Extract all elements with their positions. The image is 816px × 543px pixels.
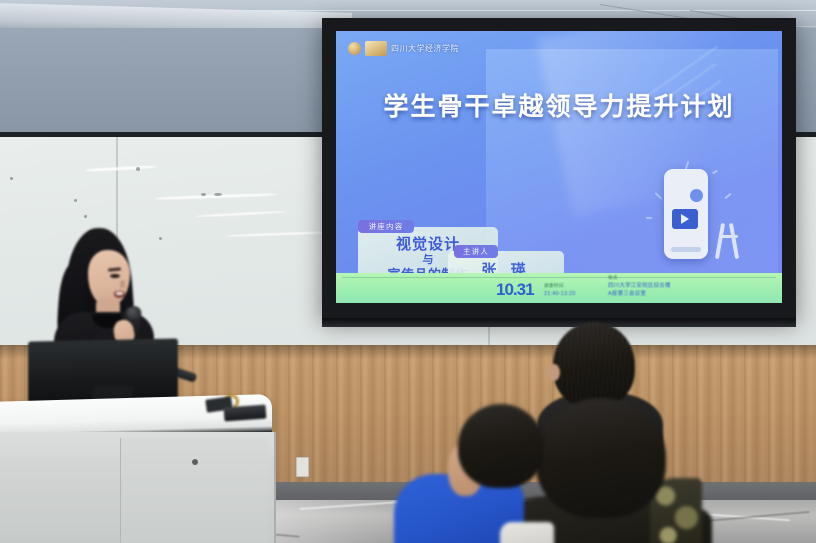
- slide-time-label: 讲座时间: [544, 283, 576, 290]
- microphone-base: [224, 405, 267, 422]
- podium-cabinet-door[interactable]: [120, 438, 268, 543]
- school-emblem-icon: [365, 41, 387, 56]
- easel-icon: [716, 223, 742, 259]
- slide-date: 10.31: [496, 280, 534, 300]
- slide-place-block: 地点 四川大学江安校区综合楼 A座第三会议室: [608, 275, 671, 298]
- audience-member-front: [404, 404, 594, 543]
- slide-illustration: [636, 161, 756, 273]
- lecture-hall-photo: 四川大学经济学院 学生骨干卓越领导力提升计划 讲座内容 视觉设计 与 宣传品的制…: [0, 0, 816, 543]
- slide-main-title: 学生骨干卓越领导力提升计划: [336, 87, 782, 123]
- play-button-icon: [672, 209, 698, 229]
- speaker-tag: 主讲人: [454, 245, 498, 258]
- phone-home-bar: [671, 247, 701, 252]
- presenter-eye: [110, 274, 120, 278]
- topic-tag: 讲座内容: [358, 220, 414, 233]
- podium-lock-icon[interactable]: [192, 459, 198, 465]
- university-seal-icon: [348, 42, 361, 55]
- projection-screen-frame: 四川大学经济学院 学生骨干卓越领导力提升计划 讲座内容 视觉设计 与 宣传品的制…: [322, 18, 796, 318]
- slide-logo: 四川大学经济学院: [348, 41, 459, 56]
- phone-camera-icon: [690, 189, 703, 202]
- slide-place-value: 四川大学江安校区综合楼: [608, 282, 671, 290]
- presenter-nose: [120, 280, 125, 288]
- slide-place-value-2: A座第三会议室: [608, 290, 671, 298]
- audience-ear: [548, 364, 560, 381]
- slide-footer-band: 10.31 讲座时间 21:40-13:20 地点 四川大学江安校区综合楼 A座…: [336, 273, 782, 303]
- slide-place-label: 地点: [608, 275, 671, 282]
- slide-time-value: 21:40-13:20: [544, 290, 576, 298]
- slide-time-block: 讲座时间 21:40-13:20: [544, 283, 576, 298]
- slide-organization-label: 四川大学经济学院: [391, 43, 459, 54]
- presenter-mouth: [114, 291, 125, 298]
- audience-paper: [500, 522, 554, 543]
- smartphone-icon: [664, 169, 708, 259]
- wall-outlet: [296, 457, 309, 477]
- presentation-slide: 四川大学经济学院 学生骨干卓越领导力提升计划 讲座内容 视觉设计 与 宣传品的制…: [336, 31, 782, 303]
